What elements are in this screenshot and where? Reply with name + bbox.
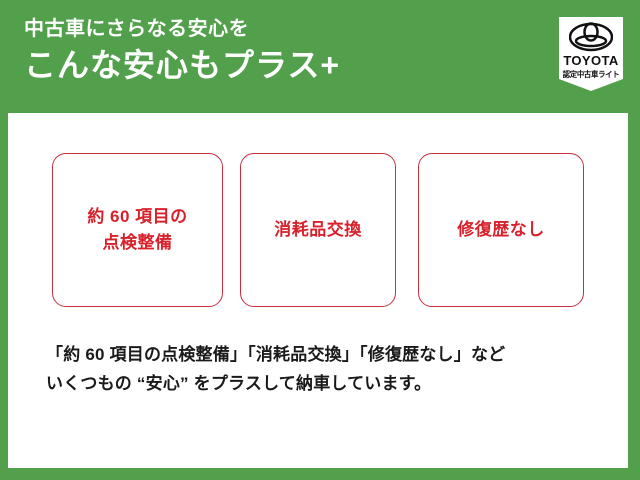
header-text-group: 中古車にさらなる安心を こんな安心もプラス+: [24, 16, 544, 86]
feature-label: 消耗品交換: [274, 217, 362, 243]
toyota-emblem-icon: [569, 22, 613, 52]
feature-box-no-repair-history: 修復歴なし: [418, 153, 584, 307]
caption-line-1: 「約 60 項目の点検整備」「消耗品交換」「修復歴なし」など: [46, 340, 622, 369]
logo-chevron-notch: [559, 79, 623, 97]
toyota-wordmark: TOYOTA: [559, 53, 623, 68]
feature-label: 約 60 項目の 点検整備: [87, 204, 187, 256]
content-panel: 約 60 項目の 点検整備 消耗品交換 修復歴なし 「約 60 項目の点検整備」…: [8, 113, 628, 468]
toyota-certified-used-car-logo: TOYOTA 認定中古車ライト: [559, 17, 623, 97]
feature-box-inspection: 約 60 項目の 点検整備: [52, 153, 223, 307]
feature-label: 修復歴なし: [457, 217, 545, 243]
banner-header: 中古車にさらなる安心を こんな安心もプラス+ TOYOTA 認定中古車ライト: [0, 0, 640, 113]
feature-box-group: 約 60 項目の 点検整備 消耗品交換 修復歴なし: [8, 153, 628, 308]
banner-title: こんな安心もプラス+: [24, 44, 544, 86]
promo-banner: 中古車にさらなる安心を こんな安心もプラス+ TOYOTA 認定中古車ライト 約…: [0, 0, 640, 480]
feature-box-consumables: 消耗品交換: [240, 153, 396, 307]
caption-line-2: いくつもの “安心” をプラスして納車しています。: [46, 369, 622, 398]
banner-subtitle: 中古車にさらなる安心を: [24, 16, 544, 42]
caption-block: 「約 60 項目の点検整備」「消耗品交換」「修復歴なし」など いくつもの “安心…: [46, 340, 622, 398]
